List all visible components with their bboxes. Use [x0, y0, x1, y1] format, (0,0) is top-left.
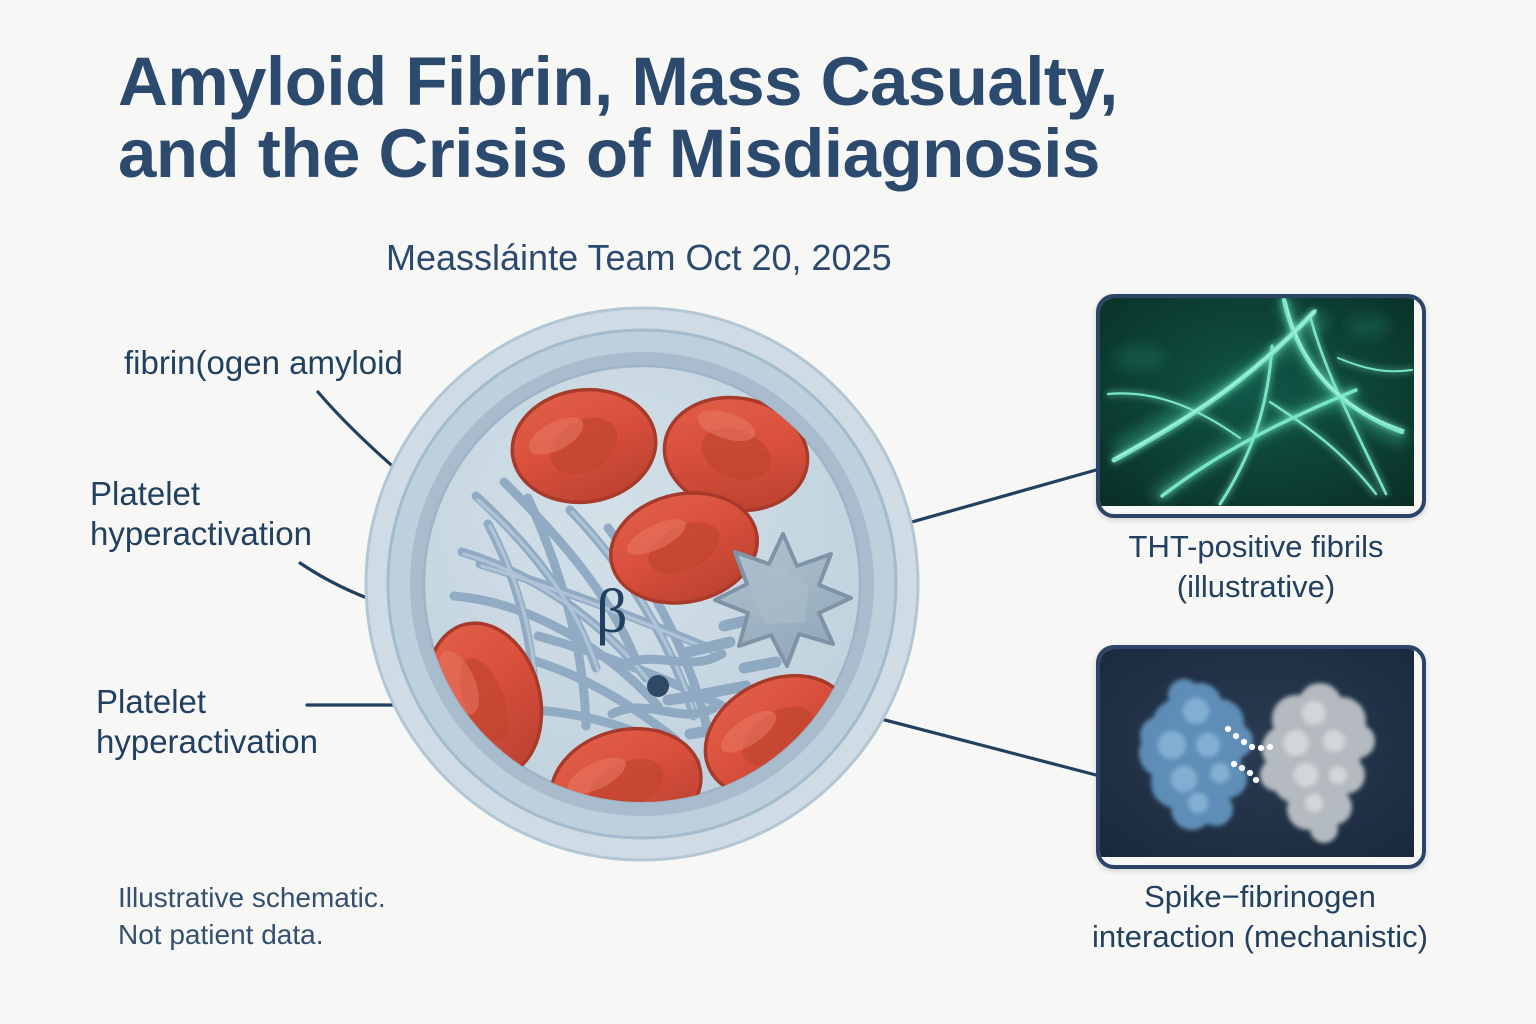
caption-spike-fibrinogen: Spike−fibrinogen interaction (mechanisti… — [1030, 877, 1490, 956]
footnote-disclaimer: Illustrative schematic. Not patient data… — [118, 879, 386, 953]
annotation-platelet-hyperactivation-upper: Platelet hyperactivation — [90, 474, 312, 555]
beta-symbol-label: β — [596, 578, 628, 646]
slide-canvas: Amyloid Fibrin, Mass Casualty, and the C… — [0, 0, 1536, 1024]
spike-fibrinogen-image — [1100, 649, 1414, 857]
annotation-platelet-hyperactivation-lower: Platelet hyperactivation — [96, 682, 318, 763]
panel-spike-fibrinogen[interactable] — [1096, 645, 1426, 869]
caption-tht-fibrils: THT-positive fibrils (illustrative) — [1046, 527, 1466, 606]
panel-tht-fibrils[interactable] — [1096, 294, 1426, 518]
tht-fibrils-image — [1100, 298, 1414, 506]
blood-vessel-diagram: β — [358, 296, 926, 872]
